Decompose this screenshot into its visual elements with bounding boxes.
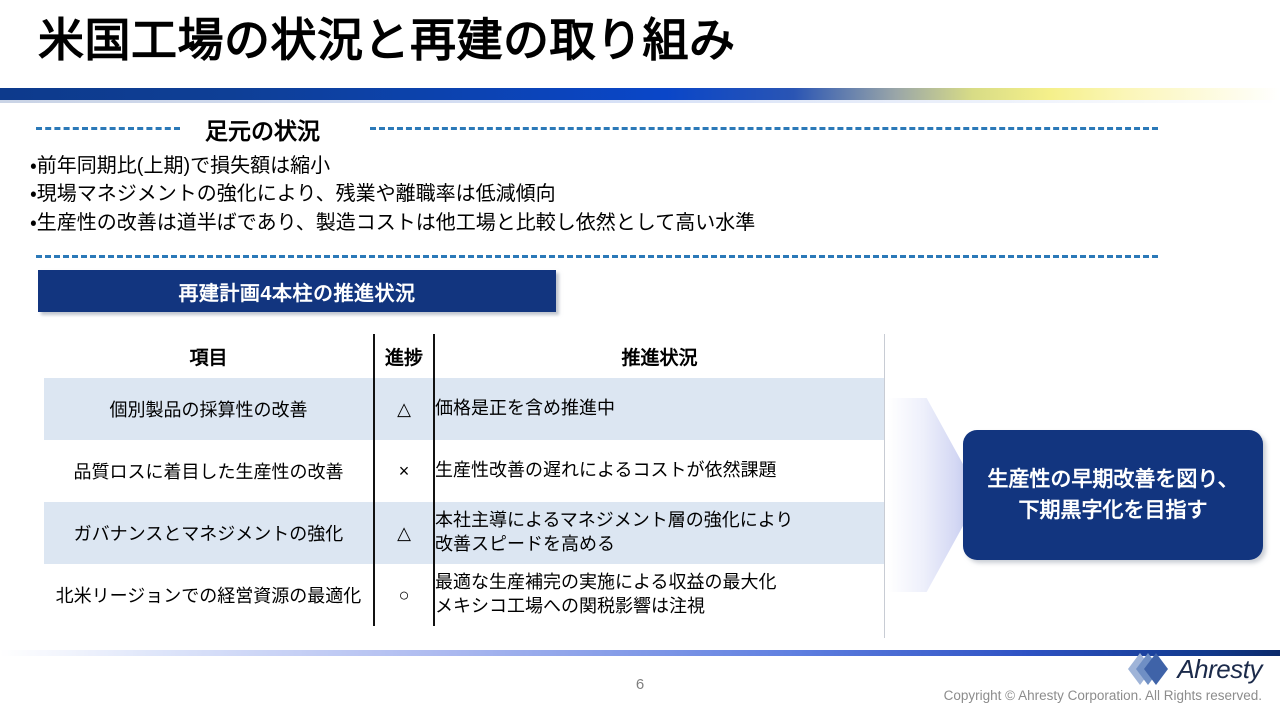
cell-status: 生産性改善の遅れによるコストが依然課題 xyxy=(434,440,884,502)
cell-item: 品質ロスに着目した生産性の改善 xyxy=(44,440,374,502)
plan-banner-label: 再建計画4本柱の推進状況 xyxy=(178,277,415,306)
cell-status-line: 本社主導によるマネジメント層の強化により xyxy=(435,509,884,533)
progress-table: 項目 進捗 推進状況 個別製品の採算性の改善 △ 価格是正を含め推進中 品質ロス… xyxy=(44,334,884,626)
list-item: ・生産性の改善は道半ばであり、製造コストは他工場と比較し依然として高い水準 xyxy=(30,209,1190,237)
cell-status: 最適な生産補完の実施による収益の最大化 メキシコ工場への関税影響は注視 xyxy=(434,564,884,626)
ahresty-diamond-icon xyxy=(1127,652,1171,686)
table-row: 品質ロスに着目した生産性の改善 × 生産性改善の遅れによるコストが依然課題 xyxy=(44,440,884,502)
page-title: 米国工場の状況と再建の取り組み xyxy=(38,14,736,67)
dashed-rule-left xyxy=(36,127,180,130)
title-divider-shadow xyxy=(0,100,1280,103)
cell-status-line: 価格是正を含め推進中 xyxy=(435,397,884,421)
situation-bullet-list: ・前年同期比(上期)で損失額は縮小 ・現場マネジメントの強化により、残業や離職率… xyxy=(30,152,1190,237)
cell-status: 本社主導によるマネジメント層の強化により 改善スピードを高める xyxy=(434,502,884,564)
column-header-progress: 進捗 xyxy=(374,334,434,378)
goal-line-2: 下期黒字化を目指す xyxy=(987,495,1238,527)
table-right-border xyxy=(884,334,885,638)
goal-line-1: 生産性の早期改善を図り、 xyxy=(987,464,1238,496)
cell-status-line: メキシコ工場への関税影響は注視 xyxy=(435,595,884,619)
cell-status-line: 改善スピードを高める xyxy=(435,533,884,557)
cell-item: ガバナンスとマネジメントの強化 xyxy=(44,502,374,564)
brand-logo: Ahresty xyxy=(1127,652,1262,686)
cell-item: 北米リージョンでの経営資源の最適化 xyxy=(44,564,374,626)
title-divider-bar xyxy=(0,88,1280,100)
goal-callout-text: 生産性の早期改善を図り、 下期黒字化を目指す xyxy=(987,464,1238,527)
section-heading: 足元の状況 xyxy=(205,112,320,146)
status-badge: ○ xyxy=(374,564,434,626)
cell-status-line: 最適な生産補完の実施による収益の最大化 xyxy=(435,571,884,595)
table-row: 個別製品の採算性の改善 △ 価格是正を含め推進中 xyxy=(44,378,884,440)
cell-status: 価格是正を含め推進中 xyxy=(434,378,884,440)
goal-callout: 生産性の早期改善を図り、 下期黒字化を目指す xyxy=(963,430,1263,560)
table-header-row: 項目 進捗 推進状況 xyxy=(44,334,884,378)
list-item: ・現場マネジメントの強化により、残業や離職率は低減傾向 xyxy=(30,180,1190,208)
plan-banner: 再建計画4本柱の推進状況 xyxy=(38,270,556,312)
table-row: 北米リージョンでの経営資源の最適化 ○ 最適な生産補完の実施による収益の最大化 … xyxy=(44,564,884,626)
cell-item: 個別製品の採算性の改善 xyxy=(44,378,374,440)
copyright-text: Copyright © Ahresty Corporation. All Rig… xyxy=(944,688,1262,703)
dashed-rule-right xyxy=(370,127,1158,130)
dashed-rule-bottom xyxy=(36,255,1158,258)
footer-divider-bar xyxy=(0,650,1280,656)
cell-status-line: 生産性改善の遅れによるコストが依然課題 xyxy=(435,459,884,483)
status-badge: △ xyxy=(374,378,434,440)
slide-canvas: 米国工場の状況と再建の取り組み 足元の状況 ・前年同期比(上期)で損失額は縮小 … xyxy=(0,0,1280,720)
table-row: ガバナンスとマネジメントの強化 △ 本社主導によるマネジメント層の強化により 改… xyxy=(44,502,884,564)
list-item: ・前年同期比(上期)で損失額は縮小 xyxy=(30,152,1190,180)
status-badge: △ xyxy=(374,502,434,564)
column-header-item: 項目 xyxy=(44,334,374,378)
status-badge: × xyxy=(374,440,434,502)
brand-wordmark: Ahresty xyxy=(1177,654,1262,685)
column-header-status: 推進状況 xyxy=(434,334,884,378)
